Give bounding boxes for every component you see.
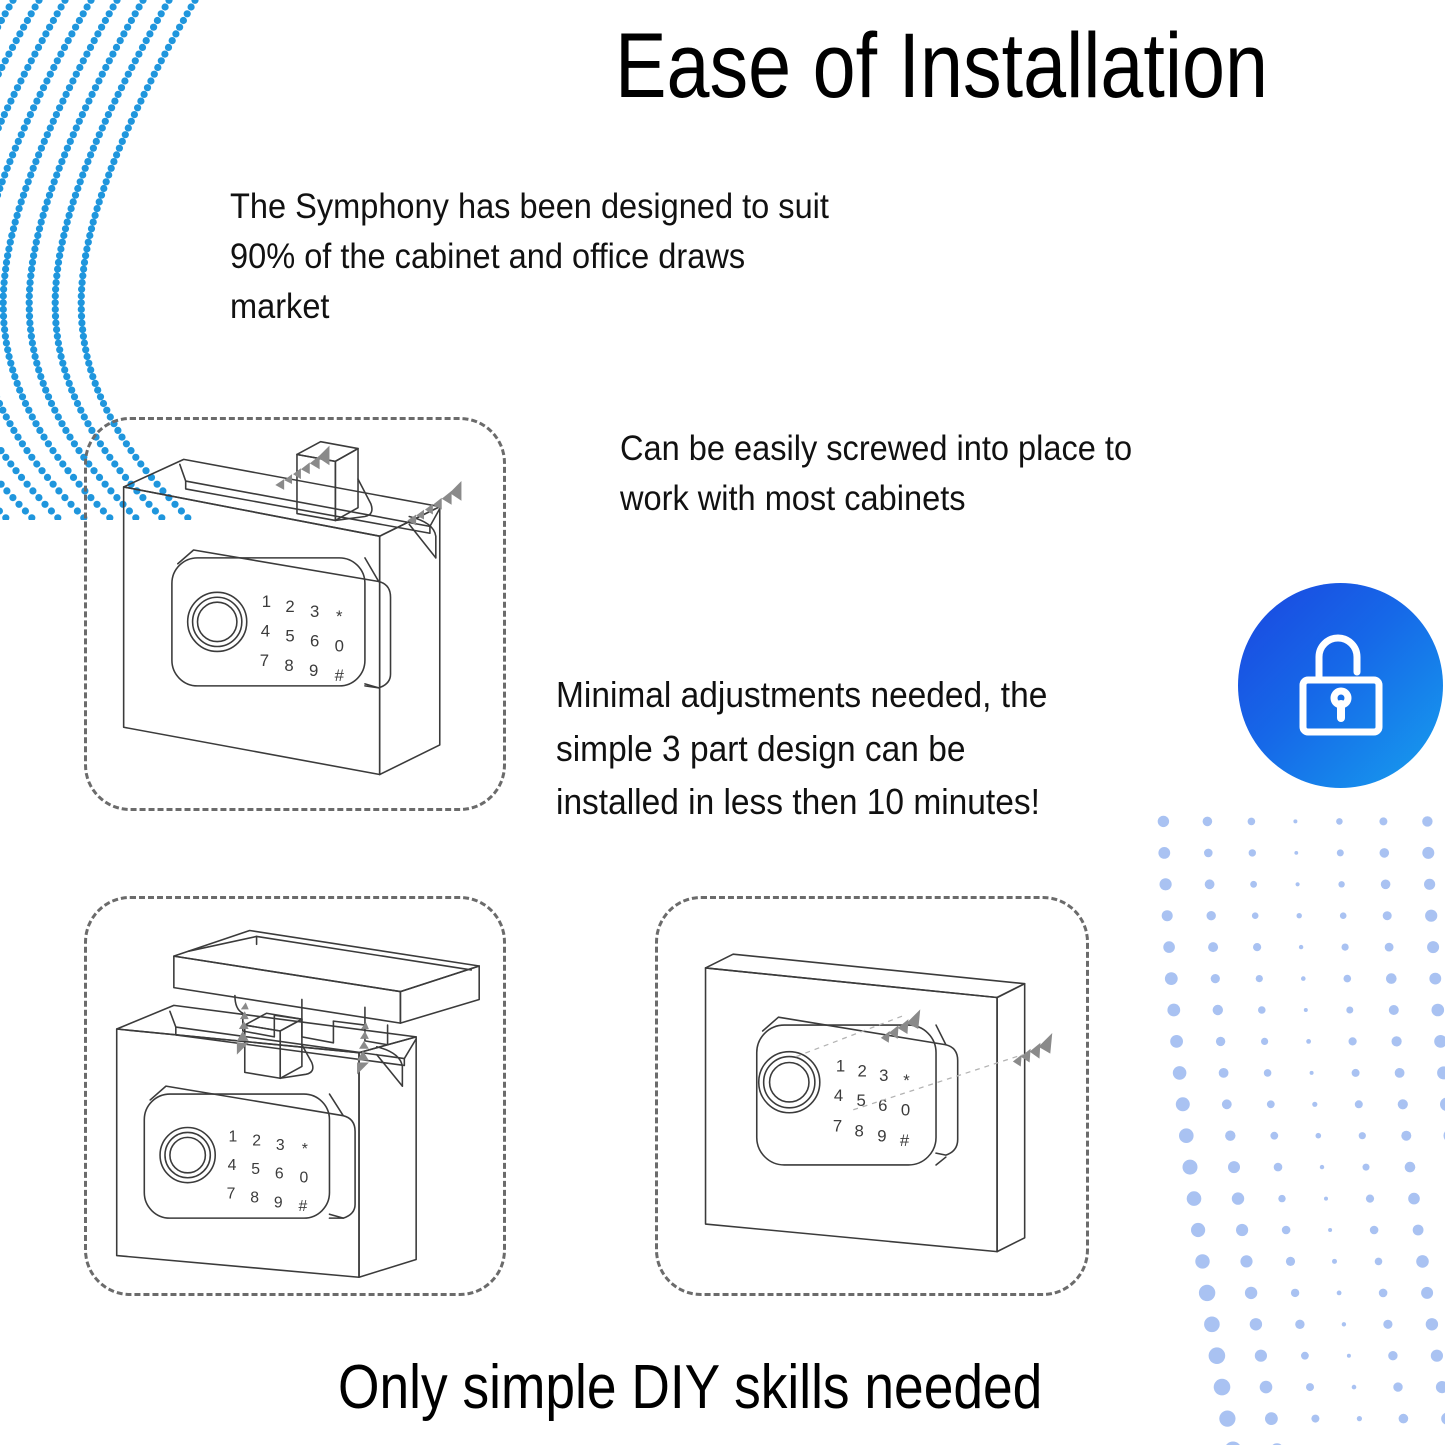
keypad-key-8: 8 xyxy=(250,1189,259,1206)
keypad-key-2: 2 xyxy=(285,597,294,616)
keypad-key-1: 1 xyxy=(836,1056,845,1075)
keypad-key-8: 8 xyxy=(284,656,293,675)
keypad-key-5: 5 xyxy=(251,1161,260,1178)
poster-canvas: Ease of Installation The Symphony has be… xyxy=(0,0,1445,1445)
keypad-key-8: 8 xyxy=(855,1121,864,1140)
keypad-key-4: 4 xyxy=(834,1086,843,1105)
keypad-key-6: 6 xyxy=(310,631,319,650)
keypad-key-2: 2 xyxy=(857,1061,866,1080)
keypad-key-3: 3 xyxy=(276,1137,285,1154)
door-screws-line-art: 1 2 3 * 4 5 6 0 7 8 9 # xyxy=(87,420,503,808)
keypad-key-star: * xyxy=(302,1141,308,1158)
mounted-lock-line-art: 1 2 3 * 4 5 6 0 7 8 9 # xyxy=(658,899,1086,1293)
keypad-key-1: 1 xyxy=(262,592,271,611)
keypad-key-0: 0 xyxy=(335,636,344,655)
keypad-key-3: 3 xyxy=(310,602,319,621)
keypad-key-0: 0 xyxy=(901,1101,910,1120)
keypad-key-9: 9 xyxy=(877,1126,886,1145)
keypad-key-2: 2 xyxy=(252,1132,261,1149)
keypad-key-star: * xyxy=(903,1071,910,1090)
screw-icon-lower xyxy=(1013,1033,1052,1066)
illustration-frame-door-screws: 1 2 3 * 4 5 6 0 7 8 9 # xyxy=(84,417,506,811)
keypad-key-9: 9 xyxy=(274,1194,283,1211)
keypad-key-7: 7 xyxy=(833,1116,842,1135)
minimal-adjustments-paragraph: Minimal adjustments needed, the simple 3… xyxy=(556,668,1207,829)
screwed-into-place-paragraph: Can be easily screwed into place to work… xyxy=(620,424,1327,524)
illustration-frame-mounted-lock: 1 2 3 * 4 5 6 0 7 8 9 # xyxy=(655,896,1089,1296)
keypad-key-5: 5 xyxy=(857,1091,866,1110)
keypad-key-4: 4 xyxy=(228,1157,237,1174)
keypad-key-7: 7 xyxy=(227,1185,236,1202)
scatter-dots-decoration xyxy=(1145,800,1445,1445)
keypad-key-hash: # xyxy=(335,666,345,685)
keypad-key-star: * xyxy=(336,607,343,626)
keypad-key-hash: # xyxy=(298,1198,307,1215)
keypad-key-1: 1 xyxy=(229,1128,238,1145)
intro-paragraph: The Symphony has been designed to suit 9… xyxy=(230,182,1048,332)
unlocked-padlock-icon xyxy=(1293,632,1389,740)
keypad-key-0: 0 xyxy=(299,1170,308,1187)
keypad-key-5: 5 xyxy=(285,627,294,646)
keypad-key-hash: # xyxy=(900,1131,910,1150)
keypad-key-7: 7 xyxy=(260,651,269,670)
keypad-key-3: 3 xyxy=(879,1066,888,1085)
alignment-guide-lines xyxy=(796,1015,1023,1110)
keypad-key-6: 6 xyxy=(878,1096,887,1115)
page-title: Ease of Installation xyxy=(615,18,1268,115)
shelf-screws-line-art: 1 2 3 * 4 5 6 0 7 8 9 # xyxy=(87,899,503,1293)
keypad-key-9: 9 xyxy=(309,661,318,680)
keypad-key-4: 4 xyxy=(261,622,270,641)
illustration-frame-shelf-screws: 1 2 3 * 4 5 6 0 7 8 9 # xyxy=(84,896,506,1296)
keypad-key-6: 6 xyxy=(275,1166,284,1183)
footer-tagline: Only simple DIY skills needed xyxy=(338,1355,1042,1420)
unlock-badge xyxy=(1238,583,1443,788)
